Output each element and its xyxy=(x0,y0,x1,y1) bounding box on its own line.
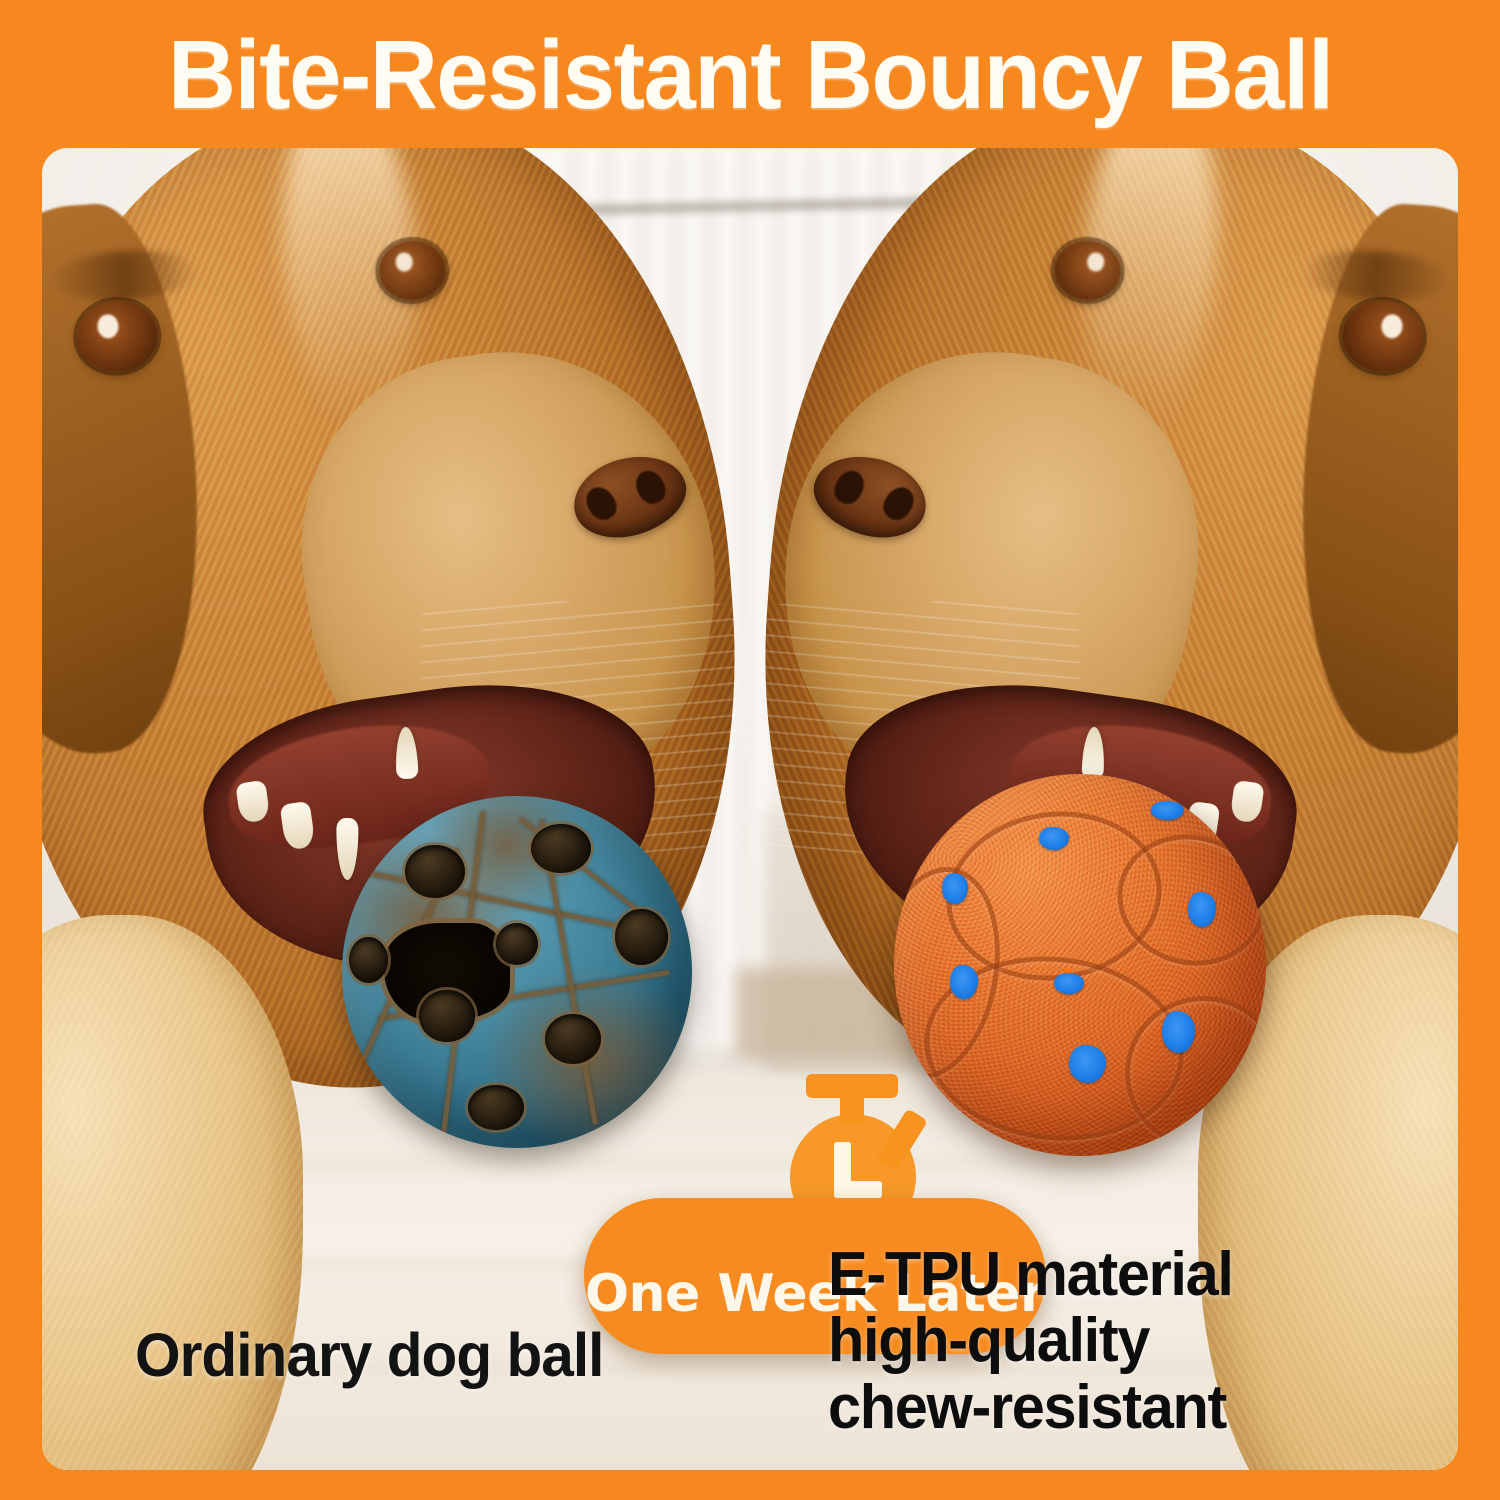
header-banner: Bite-Resistant Bouncy Ball xyxy=(0,0,1500,148)
nostril-right xyxy=(828,467,868,510)
caption-line-1: E-TPU material xyxy=(828,1242,1233,1308)
caption-line-2: high-quality xyxy=(828,1308,1233,1374)
dog-right-nose xyxy=(804,445,935,550)
caption-etpu-material: E-TPU material high-quality chew-resista… xyxy=(828,1242,1233,1441)
page-title: Bite-Resistant Bouncy Ball xyxy=(168,26,1333,123)
nostril-left xyxy=(581,482,623,525)
dog-left-nose xyxy=(565,445,696,550)
product-comparison-photo: One Week Later Ordinary dog ball E-TPU m… xyxy=(42,148,1458,1470)
nostril-left xyxy=(878,482,920,525)
caption-ordinary-ball: Ordinary dog ball xyxy=(135,1320,603,1390)
caption-line-3: chew-resistant xyxy=(828,1375,1233,1441)
nostril-right xyxy=(632,467,672,510)
